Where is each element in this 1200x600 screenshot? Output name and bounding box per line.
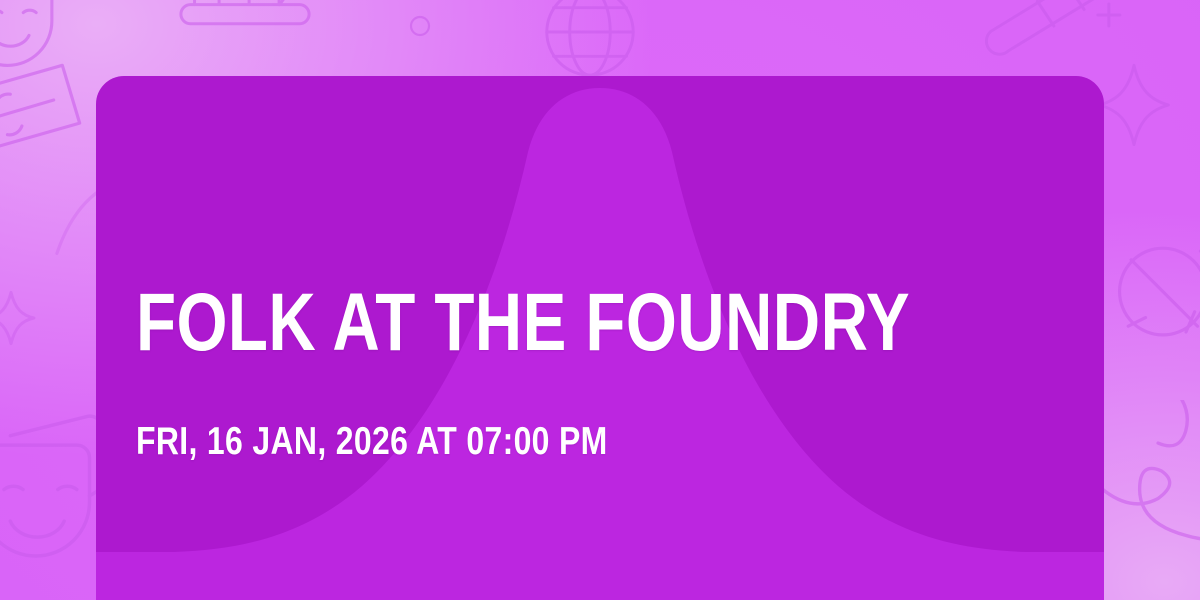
ticket-stub-icon (978, 0, 1138, 70)
event-banner: Folk at the Foundry Fri, 16 Jan, 2026 at… (0, 0, 1200, 600)
sparkle-icon (1094, 60, 1174, 150)
event-card[interactable]: Folk at the Foundry Fri, 16 Jan, 2026 at… (96, 76, 1104, 600)
event-title: Folk at the Foundry (136, 280, 910, 366)
piano-keyboard-icon (170, 0, 320, 76)
theater-masks-icon (0, 0, 84, 84)
event-datetime: Fri, 16 Jan, 2026 at 07:00 PM (136, 420, 608, 464)
sparkle-icon (0, 288, 38, 348)
card-content: Folk at the Foundry Fri, 16 Jan, 2026 at… (136, 76, 1036, 600)
drum-icon (1108, 228, 1200, 358)
globe-icon (536, 0, 644, 86)
circle-dot-icon (400, 6, 440, 46)
